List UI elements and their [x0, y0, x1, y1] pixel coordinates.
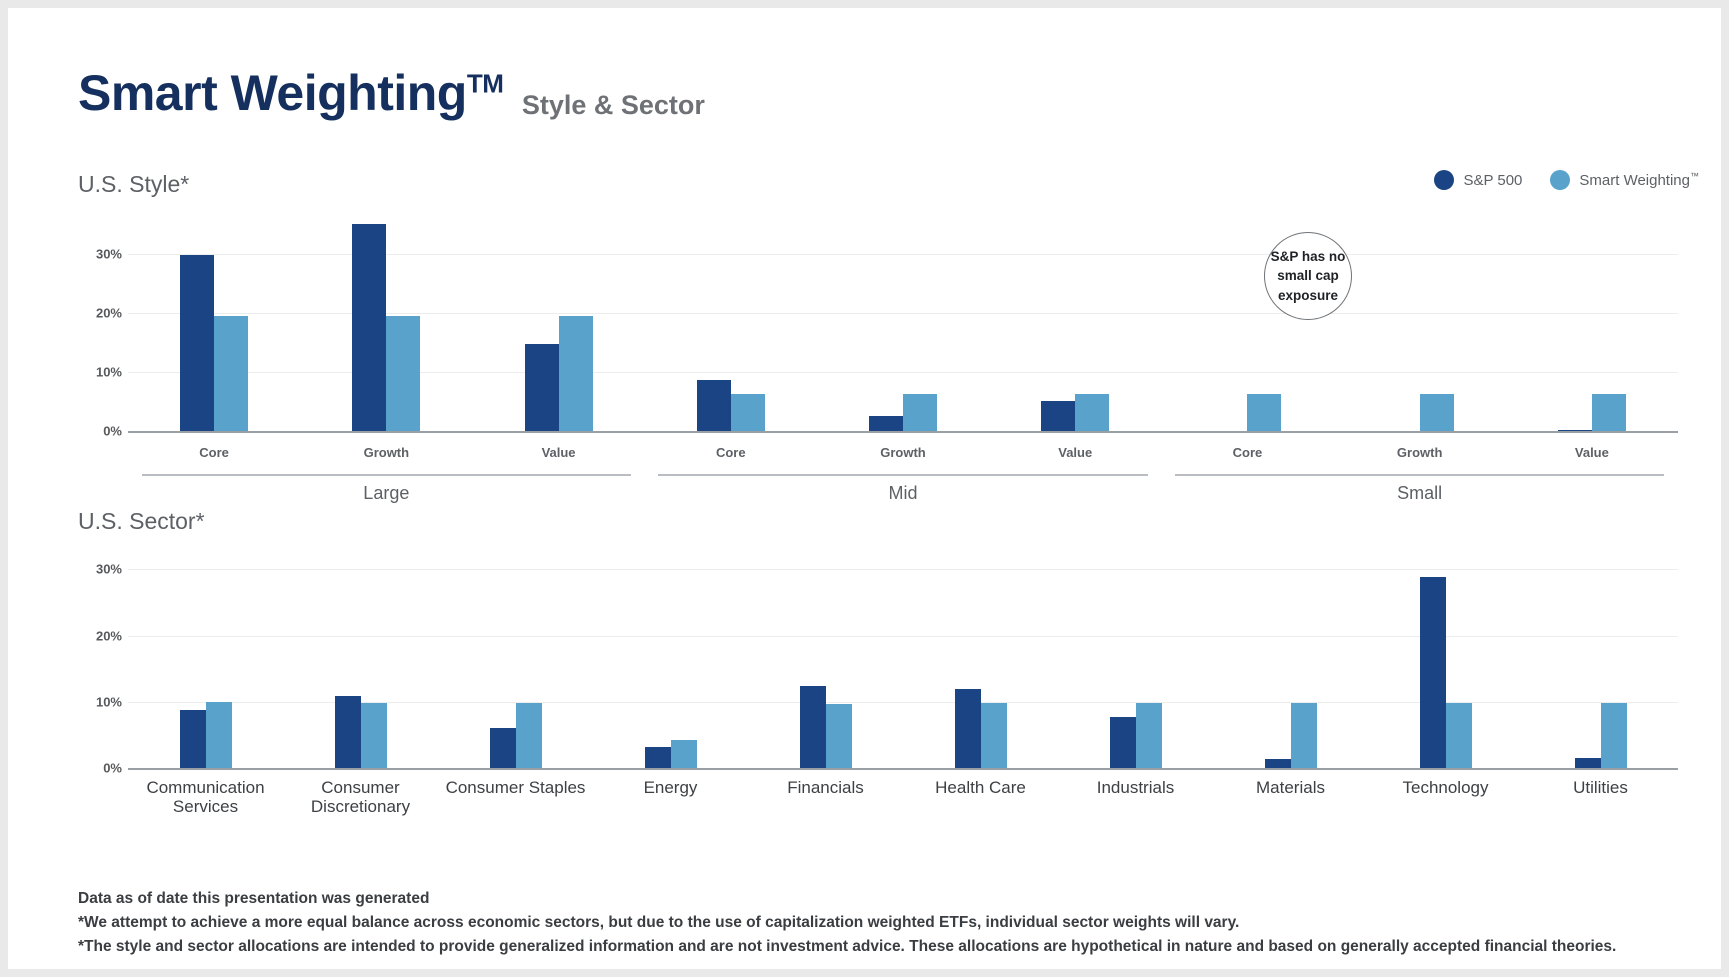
legend-item-smart-weighting: Smart Weighting™ — [1550, 170, 1699, 190]
y-axis-tick-label: 0% — [78, 761, 122, 776]
legend-label-sp500: S&P 500 — [1463, 172, 1522, 189]
legend-label-smart-weighting: Smart Weighting™ — [1579, 171, 1699, 189]
bar — [731, 394, 765, 431]
x-axis-category-label: Core — [128, 445, 300, 460]
bar — [903, 394, 937, 431]
gridline — [128, 569, 1678, 570]
bar — [559, 316, 593, 431]
bar — [1420, 394, 1454, 431]
style-chart: 0%10%20%30% CoreGrowthValueCoreGrowthVal… — [78, 213, 1678, 431]
x-axis-baseline — [128, 768, 1678, 770]
bar — [1291, 703, 1317, 768]
footnotes: Data as of date this presentation was ge… — [78, 888, 1697, 960]
page-title-text: Smart Weighting — [78, 65, 467, 121]
style-section-heading: U.S. Style* — [78, 171, 189, 198]
trademark-superscript: TM — [467, 68, 504, 98]
bar — [1247, 394, 1281, 431]
page-title: Smart WeightingTM — [78, 68, 503, 118]
x-axis-category-label: Materials — [1216, 778, 1366, 797]
x-axis-category-label: Industrials — [1061, 778, 1211, 797]
bar — [1592, 394, 1626, 431]
bar — [525, 344, 559, 431]
y-axis-tick-label: 20% — [78, 306, 122, 321]
y-axis-tick-label: 10% — [78, 694, 122, 709]
bar — [214, 316, 248, 431]
bar — [1420, 577, 1446, 768]
legend-trademark-icon: ™ — [1690, 171, 1699, 181]
y-axis-tick-label: 0% — [78, 424, 122, 439]
x-axis-category-label: Financials — [751, 778, 901, 797]
bar — [1075, 394, 1109, 431]
x-axis-category-label: Value — [989, 445, 1161, 460]
legend-dot-sp500 — [1434, 170, 1454, 190]
title-row: Smart WeightingTM Style & Sector — [78, 68, 705, 138]
annotation-text: S&P has no small cap exposure — [1265, 247, 1351, 306]
x-axis-category-label: Health Care — [906, 778, 1056, 797]
footnote-line: Data as of date this presentation was ge… — [78, 888, 1697, 910]
sector-chart-plot-area: 0%10%20%30% — [78, 556, 1678, 768]
bar — [800, 686, 826, 768]
sector-chart: 0%10%20%30% Communication ServicesConsum… — [78, 556, 1678, 768]
group-label: Small — [1397, 483, 1442, 504]
x-axis-category-label: Communication Services — [131, 778, 281, 816]
page-subtitle: Style & Sector — [522, 90, 705, 121]
x-axis-category-label: Growth — [817, 445, 989, 460]
legend-dot-smart-weighting — [1550, 170, 1570, 190]
group-rule — [1175, 474, 1664, 476]
style-chart-plot-area: 0%10%20%30% — [78, 213, 1678, 431]
bar — [490, 728, 516, 768]
footnote-line: *The style and sector allocations are in… — [78, 936, 1697, 958]
legend-item-sp500: S&P 500 — [1434, 170, 1522, 190]
gridline — [128, 636, 1678, 637]
bar — [516, 703, 542, 768]
x-axis-category-label: Value — [1506, 445, 1678, 460]
y-axis-tick-label: 30% — [78, 562, 122, 577]
slide-canvas: Smart WeightingTM Style & Sector U.S. St… — [8, 8, 1721, 969]
bar — [386, 316, 420, 431]
bar — [981, 703, 1007, 768]
bar — [335, 696, 361, 768]
bar — [697, 380, 731, 431]
group-rule — [658, 474, 1147, 476]
bar — [955, 689, 981, 768]
bar — [1136, 703, 1162, 768]
bar — [1601, 703, 1627, 768]
y-axis-tick-label: 30% — [78, 247, 122, 262]
bar — [1558, 430, 1592, 432]
footnote-line: *We attempt to achieve a more equal bala… — [78, 912, 1697, 934]
chart-legend: S&P 500 Smart Weighting™ — [1434, 170, 1699, 190]
x-axis-category-label: Growth — [300, 445, 472, 460]
x-axis-category-label: Consumer Staples — [441, 778, 591, 797]
bar — [180, 710, 206, 768]
group-rule — [142, 474, 631, 476]
bar — [826, 704, 852, 768]
group-label: Mid — [888, 483, 917, 504]
x-axis-category-label: Growth — [1334, 445, 1506, 460]
bar — [1446, 703, 1472, 768]
x-axis-category-label: Value — [472, 445, 644, 460]
x-axis-category-label: Technology — [1371, 778, 1521, 797]
bar — [671, 740, 697, 768]
no-small-cap-annotation: S&P has no small cap exposure — [1264, 232, 1352, 320]
bar — [206, 702, 232, 768]
bar — [1575, 758, 1601, 768]
x-axis-category-label: Energy — [596, 778, 746, 797]
x-axis-category-label: Core — [645, 445, 817, 460]
y-axis-tick-label: 20% — [78, 628, 122, 643]
bar — [1041, 401, 1075, 431]
x-axis-category-label: Consumer Discretionary — [286, 778, 436, 816]
bar — [1110, 717, 1136, 768]
group-label: Large — [363, 483, 409, 504]
bar — [645, 747, 671, 768]
x-axis-category-label: Utilities — [1526, 778, 1676, 797]
bar — [361, 703, 387, 768]
x-axis-baseline — [128, 431, 1678, 433]
bar — [352, 224, 386, 431]
bar — [1265, 759, 1291, 768]
x-axis-category-label: Core — [1161, 445, 1333, 460]
bar — [869, 416, 903, 431]
sector-section-heading: U.S. Sector* — [78, 508, 205, 535]
y-axis-tick-label: 10% — [78, 365, 122, 380]
bar — [180, 255, 214, 431]
